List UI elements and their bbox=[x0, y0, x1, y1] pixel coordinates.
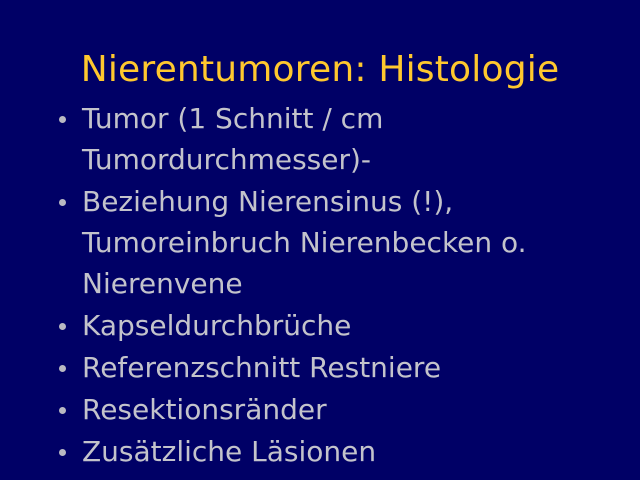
bullet-item: Zusätzliche Läsionen bbox=[56, 431, 576, 472]
slide-bullet-list: Tumor (1 Schnitt / cm Tumordurchmesser)-… bbox=[56, 98, 576, 473]
bullet-disc-icon bbox=[59, 323, 66, 330]
bullet-disc-icon bbox=[59, 365, 66, 372]
bullet-text: Beziehung Nierensinus (!), Tumoreinbruch… bbox=[82, 181, 576, 304]
bullet-disc-icon bbox=[59, 116, 66, 123]
bullet-item: Resektionsränder bbox=[56, 389, 576, 430]
bullet-disc-icon bbox=[59, 199, 66, 206]
presentation-slide: Nierentumoren: Histologie Tumor (1 Schni… bbox=[0, 0, 640, 480]
bullet-text: Tumor (1 Schnitt / cm Tumordurchmesser)- bbox=[82, 98, 576, 180]
bullet-item: Kapseldurchbrüche bbox=[56, 305, 576, 346]
bullet-disc-icon bbox=[59, 449, 66, 456]
bullet-item: Tumor (1 Schnitt / cm Tumordurchmesser)- bbox=[56, 98, 576, 180]
bullet-item: Referenzschnitt Restniere bbox=[56, 347, 576, 388]
bullet-text: Resektionsränder bbox=[82, 389, 576, 430]
slide-title: Nierentumoren: Histologie bbox=[0, 48, 640, 92]
bullet-text: Kapseldurchbrüche bbox=[82, 305, 576, 346]
bullet-text: Zusätzliche Läsionen bbox=[82, 431, 576, 472]
bullet-item: Beziehung Nierensinus (!), Tumoreinbruch… bbox=[56, 181, 576, 304]
bullet-text: Referenzschnitt Restniere bbox=[82, 347, 576, 388]
bullet-disc-icon bbox=[59, 407, 66, 414]
